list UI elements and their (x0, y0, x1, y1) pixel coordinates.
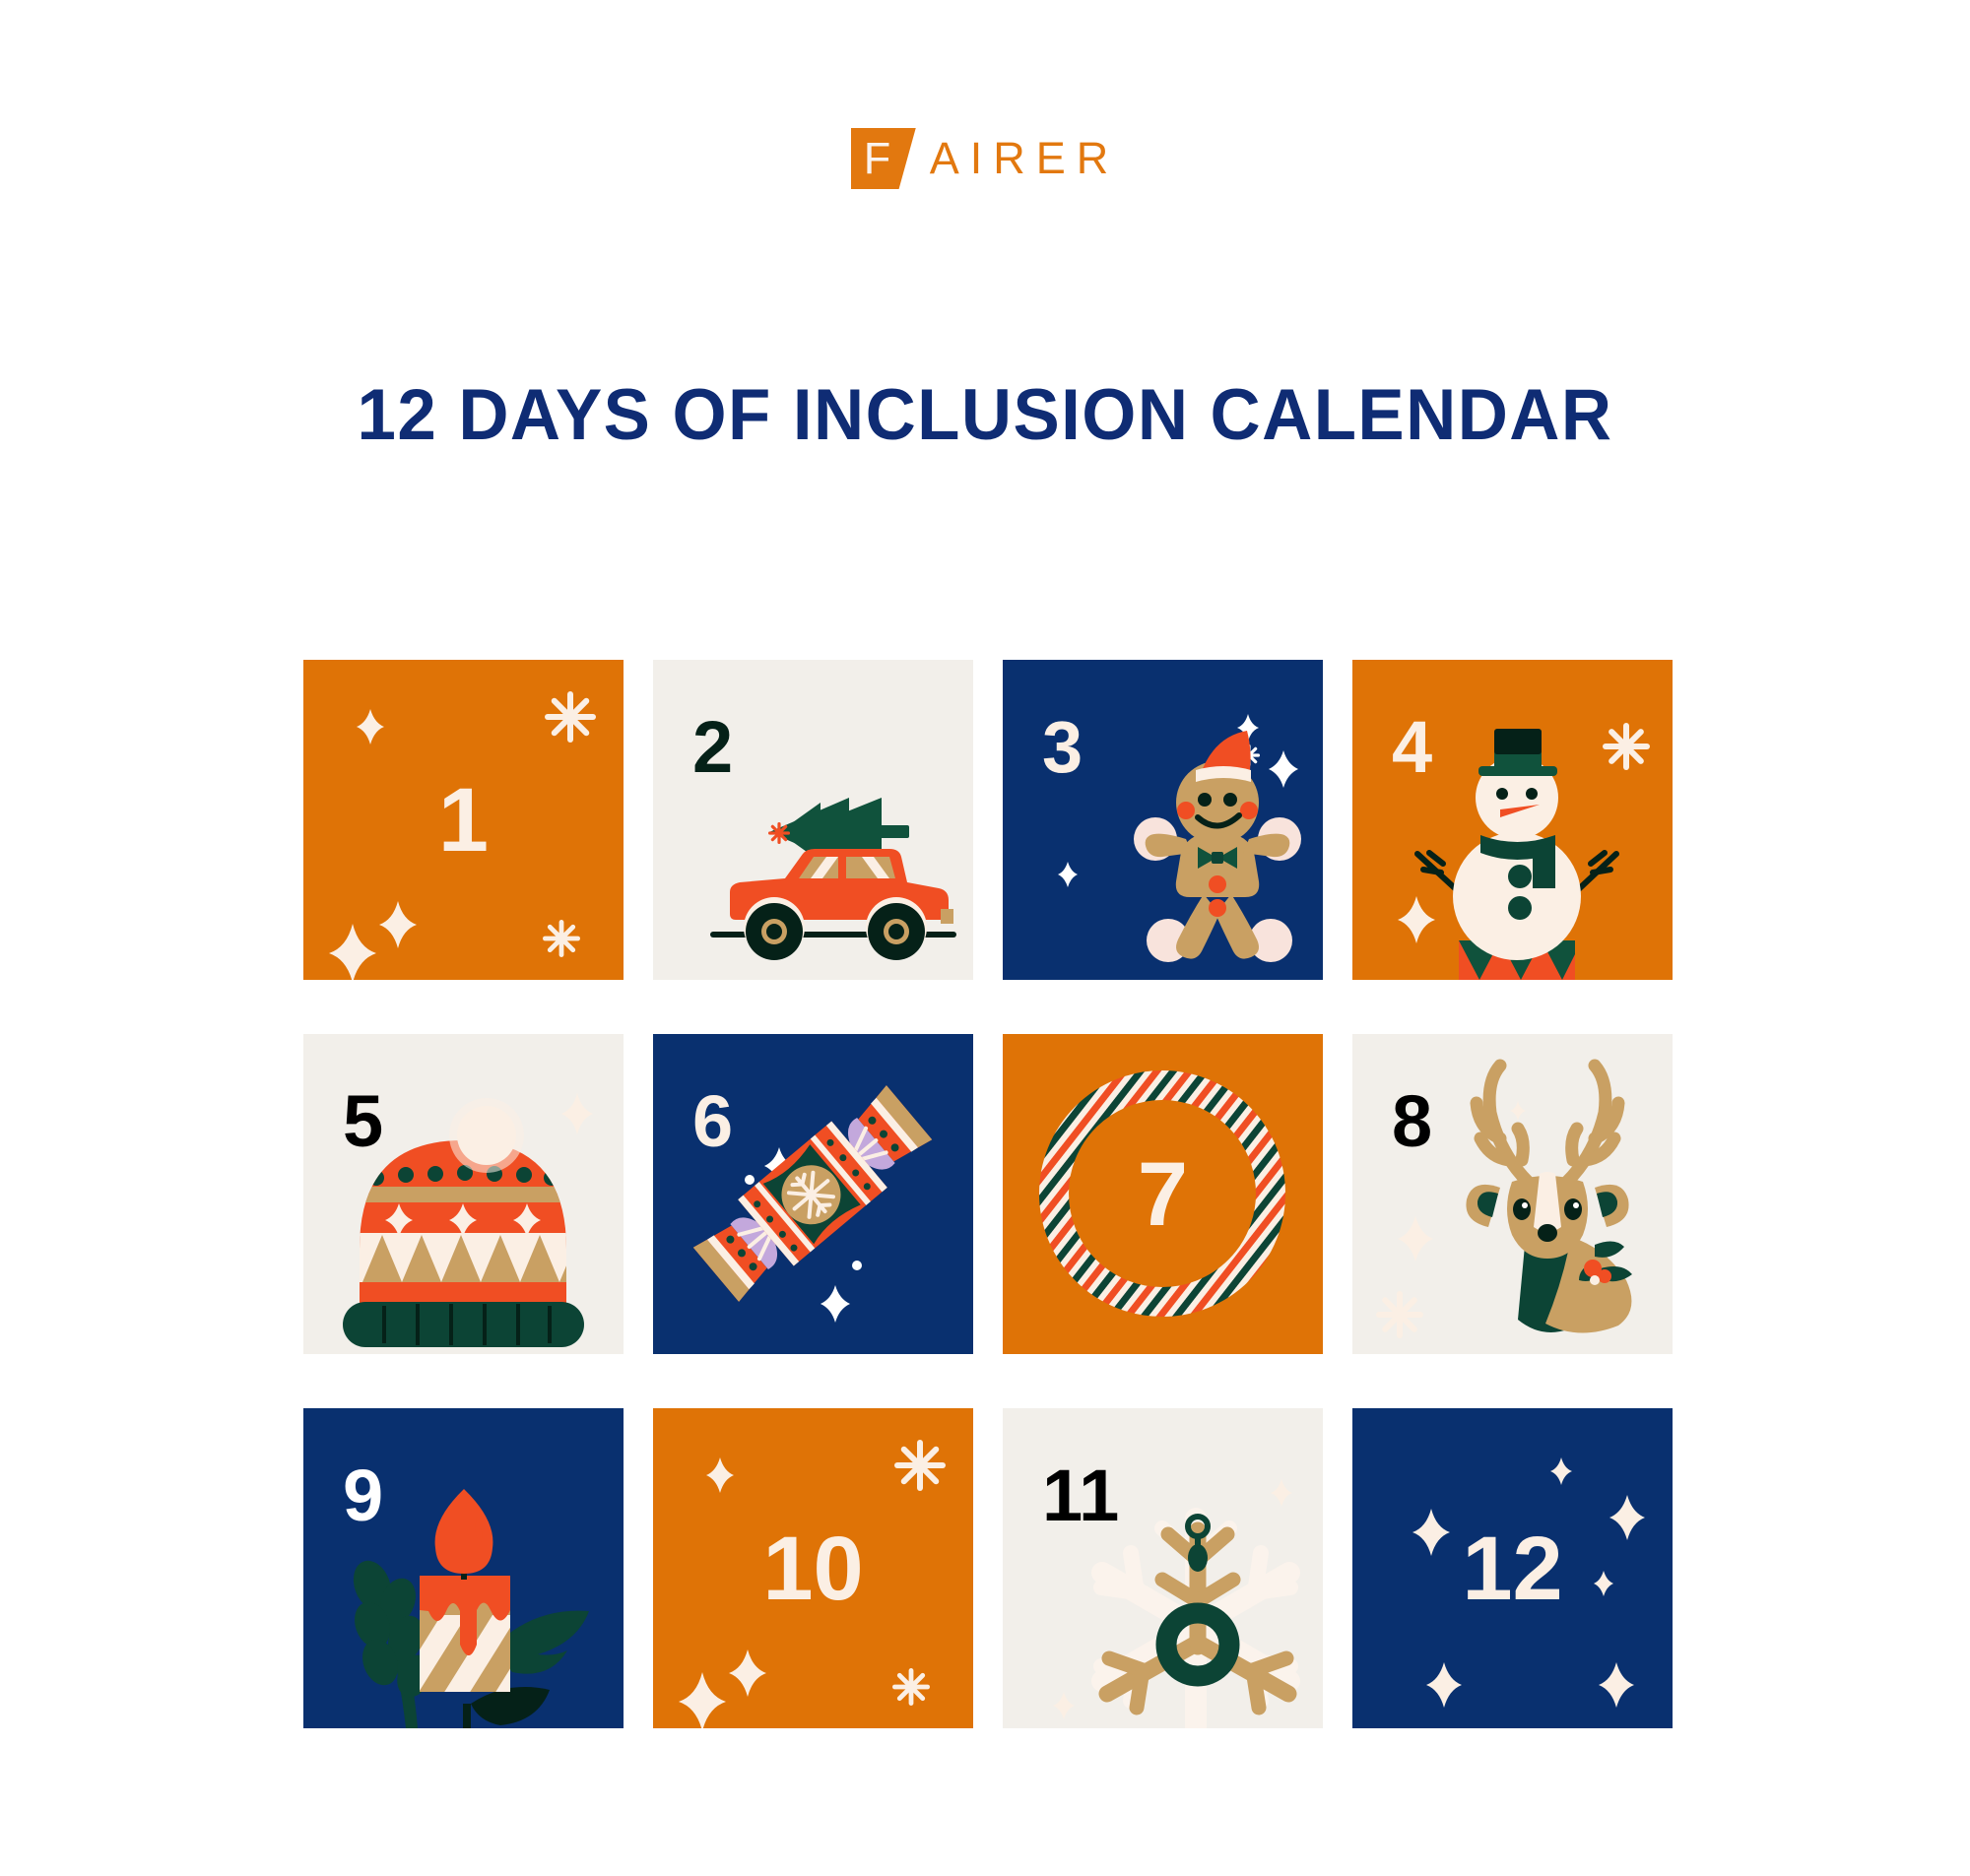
day-number: 2 (692, 711, 733, 784)
calendar-day-tile[interactable]: 1 (303, 660, 624, 980)
day-number: 5 (343, 1085, 383, 1158)
logo-mark-letter: F (851, 128, 891, 189)
day-number: 4 (1392, 711, 1432, 784)
advent-calendar-page: F AIRER 12 DAYS OF INCLUSION CALENDAR (0, 0, 1970, 1876)
logo-lockup: F AIRER (851, 128, 1120, 189)
day-number: 11 (1042, 1459, 1119, 1532)
calendar-day-tile[interactable]: 6 (653, 1034, 973, 1354)
brand-logo[interactable]: F AIRER (0, 128, 1970, 189)
day-number: 6 (692, 1085, 733, 1158)
day-number: 10 (762, 1523, 863, 1614)
logo-wordmark: AIRER (930, 128, 1120, 189)
day-number: 1 (438, 775, 489, 866)
logo-mark-icon: F (851, 128, 916, 189)
day-number: 9 (343, 1459, 383, 1532)
calendar-day-tile[interactable]: 5 (303, 1034, 624, 1354)
calendar-day-tile[interactable]: 10 (653, 1408, 973, 1728)
day-number: 7 (1138, 1149, 1188, 1240)
calendar-day-tile[interactable]: 12 (1352, 1408, 1673, 1728)
calendar-day-tile[interactable]: 4 (1352, 660, 1673, 980)
day-number: 8 (1392, 1085, 1432, 1158)
calendar-day-tile[interactable]: 8 (1352, 1034, 1673, 1354)
day-number: 12 (1462, 1523, 1562, 1614)
day-number: 3 (1042, 711, 1083, 784)
calendar-day-tile[interactable]: 9 (303, 1408, 624, 1728)
calendar-day-tile[interactable]: 11 (1003, 1408, 1323, 1728)
calendar-day-tile[interactable]: 7 (1003, 1034, 1323, 1354)
calendar-grid: 1 (303, 660, 1673, 1728)
calendar-day-tile[interactable]: 3 (1003, 660, 1323, 980)
page-title: 12 DAYS OF INCLUSION CALENDAR (30, 374, 1940, 456)
calendar-day-tile[interactable]: 2 (653, 660, 973, 980)
